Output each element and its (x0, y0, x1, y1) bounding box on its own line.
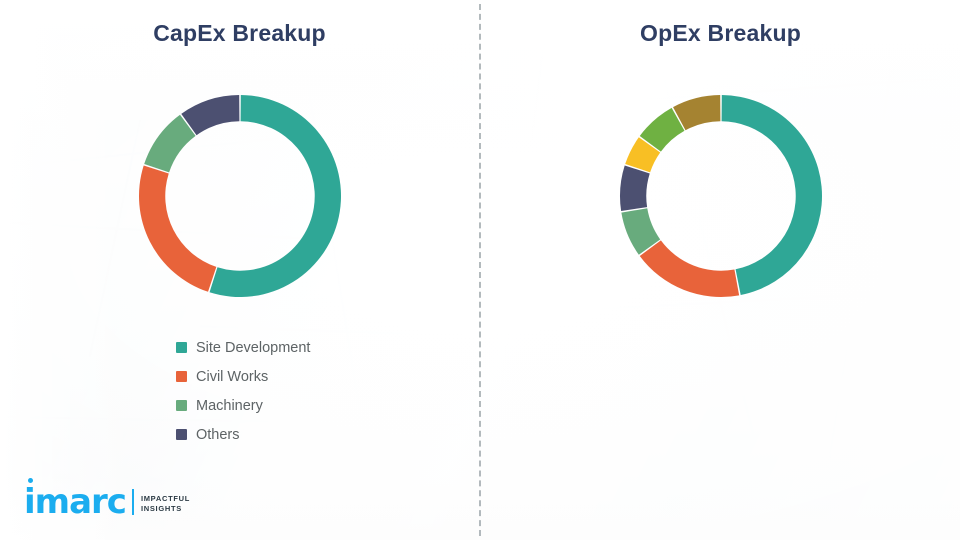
capex-donut-chart (128, 84, 352, 308)
donut-segment (209, 95, 340, 297)
capex-donut-wrapper (0, 84, 479, 308)
imarc-logo: imarc IMPACTFUL INSIGHTS (24, 487, 190, 518)
capex-legend: Site DevelopmentCivil WorksMachineryOthe… (176, 335, 310, 451)
legend-item[interactable]: Others (176, 422, 310, 447)
donut-segment (639, 240, 738, 297)
logo-separator-bar (132, 489, 134, 515)
legend-label: Site Development (196, 340, 310, 356)
legend-label: Others (196, 427, 240, 443)
legend-item[interactable]: Site Development (176, 335, 310, 360)
capex-panel: CapEx Breakup Site DevelopmentCivil Work… (0, 0, 479, 540)
legend-swatch-icon (176, 342, 187, 353)
legend-item[interactable]: Civil Works (176, 364, 310, 389)
legend-swatch-icon (176, 371, 187, 382)
donut-segment (144, 115, 195, 173)
logo-tagline-line2: INSIGHTS (141, 504, 190, 514)
opex-chart-title: OpEx Breakup (481, 20, 960, 47)
opex-donut-chart (609, 84, 833, 308)
legend-label: Machinery (196, 398, 263, 414)
legend-label: Civil Works (196, 369, 268, 385)
legend-item[interactable]: Machinery (176, 393, 310, 418)
legend-swatch-icon (176, 400, 187, 411)
capex-chart-title: CapEx Breakup (0, 20, 479, 47)
donut-segment (139, 166, 216, 292)
donut-segment (620, 166, 650, 211)
logo-tagline: IMPACTFUL INSIGHTS (141, 494, 190, 518)
opex-donut-wrapper (481, 84, 960, 308)
legend-swatch-icon (176, 429, 187, 440)
logo-wordmark: imarc (24, 487, 126, 518)
donut-segment (721, 95, 821, 295)
opex-panel: OpEx Breakup Raw MaterialsSalaries and W… (481, 0, 960, 540)
logo-text: imarc (24, 487, 126, 518)
logo-tagline-line1: IMPACTFUL (141, 494, 190, 504)
